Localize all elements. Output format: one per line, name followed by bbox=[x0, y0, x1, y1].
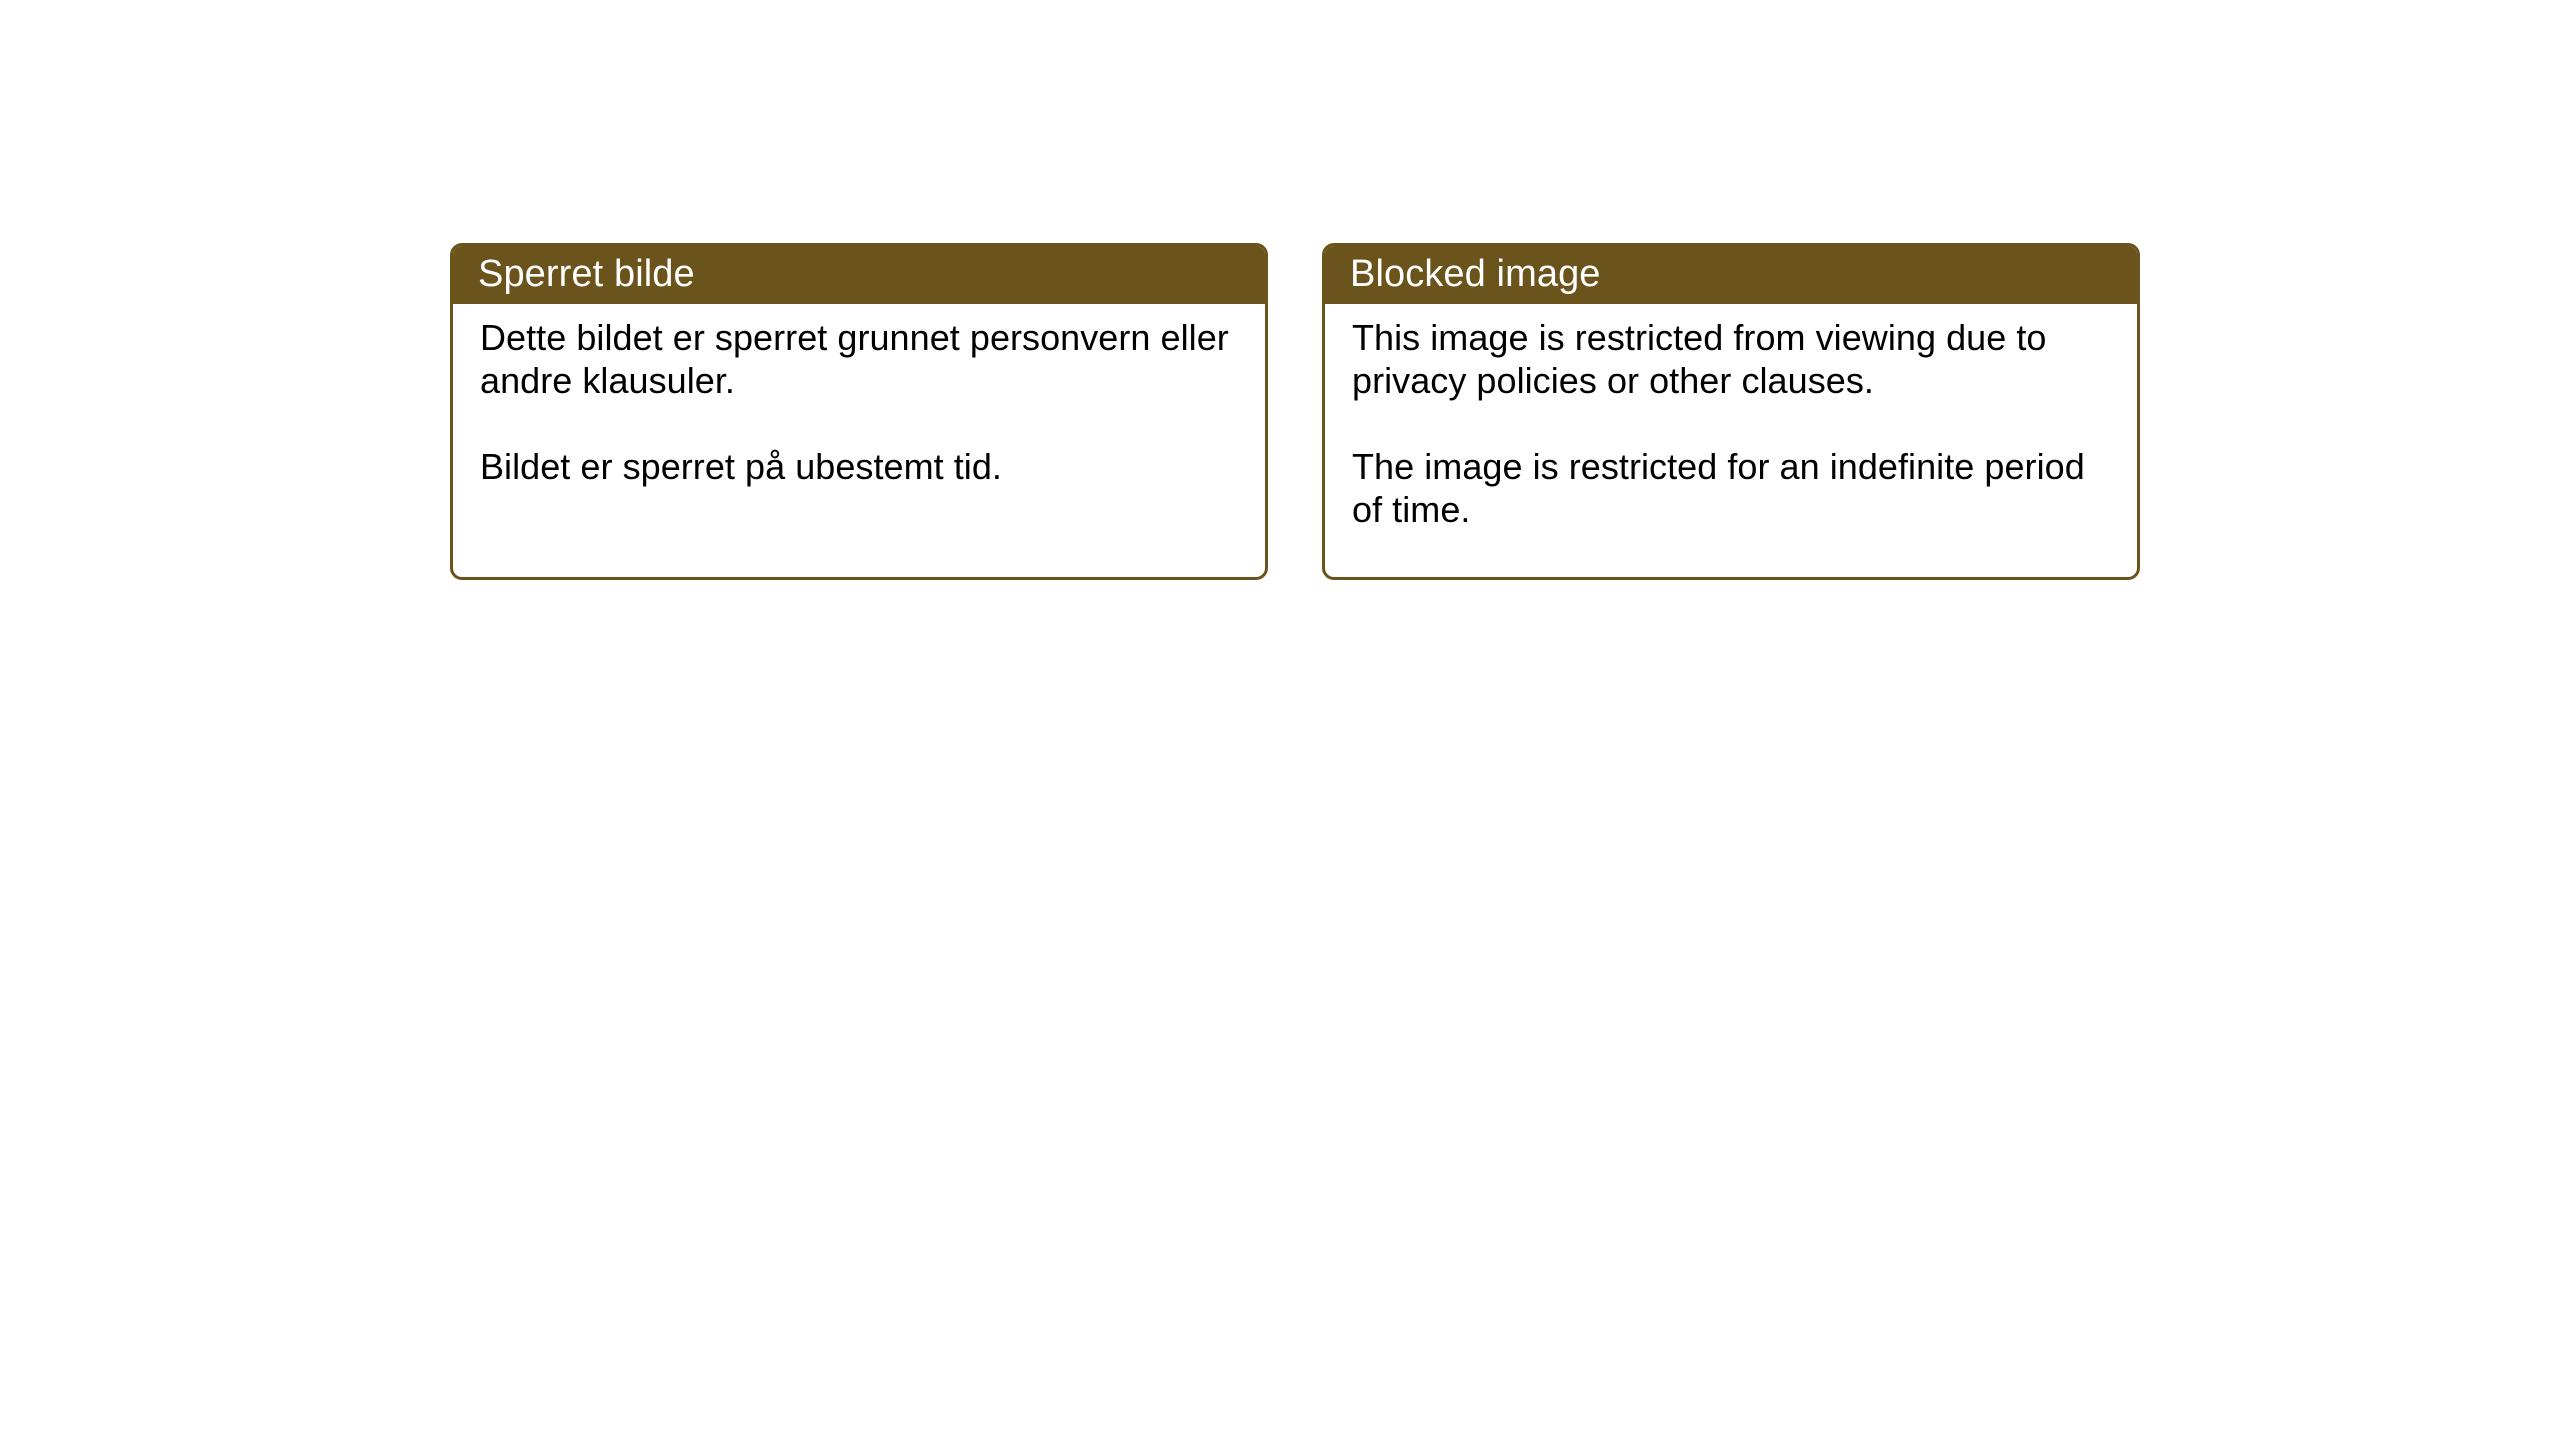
card-header-norwegian: Sperret bilde bbox=[450, 243, 1268, 304]
card-body-english: This image is restricted from viewing du… bbox=[1325, 304, 2137, 531]
blocked-image-card-english: Blocked image This image is restricted f… bbox=[1322, 243, 2140, 580]
card-paragraph-privacy-english: This image is restricted from viewing du… bbox=[1352, 316, 2117, 402]
card-header-english: Blocked image bbox=[1322, 243, 2140, 304]
card-paragraph-duration-norwegian: Bildet er sperret på ubestemt tid. bbox=[480, 445, 1245, 488]
card-title-english: Blocked image bbox=[1350, 254, 1601, 294]
card-paragraph-duration-english: The image is restricted for an indefinit… bbox=[1352, 445, 2117, 531]
card-paragraph-privacy-norwegian: Dette bildet er sperret grunnet personve… bbox=[480, 316, 1245, 402]
page-canvas: Sperret bilde Dette bildet er sperret gr… bbox=[0, 0, 2560, 1440]
card-title-norwegian: Sperret bilde bbox=[478, 254, 695, 294]
blocked-image-card-norwegian: Sperret bilde Dette bildet er sperret gr… bbox=[450, 243, 1268, 580]
card-body-norwegian: Dette bildet er sperret grunnet personve… bbox=[453, 304, 1265, 488]
